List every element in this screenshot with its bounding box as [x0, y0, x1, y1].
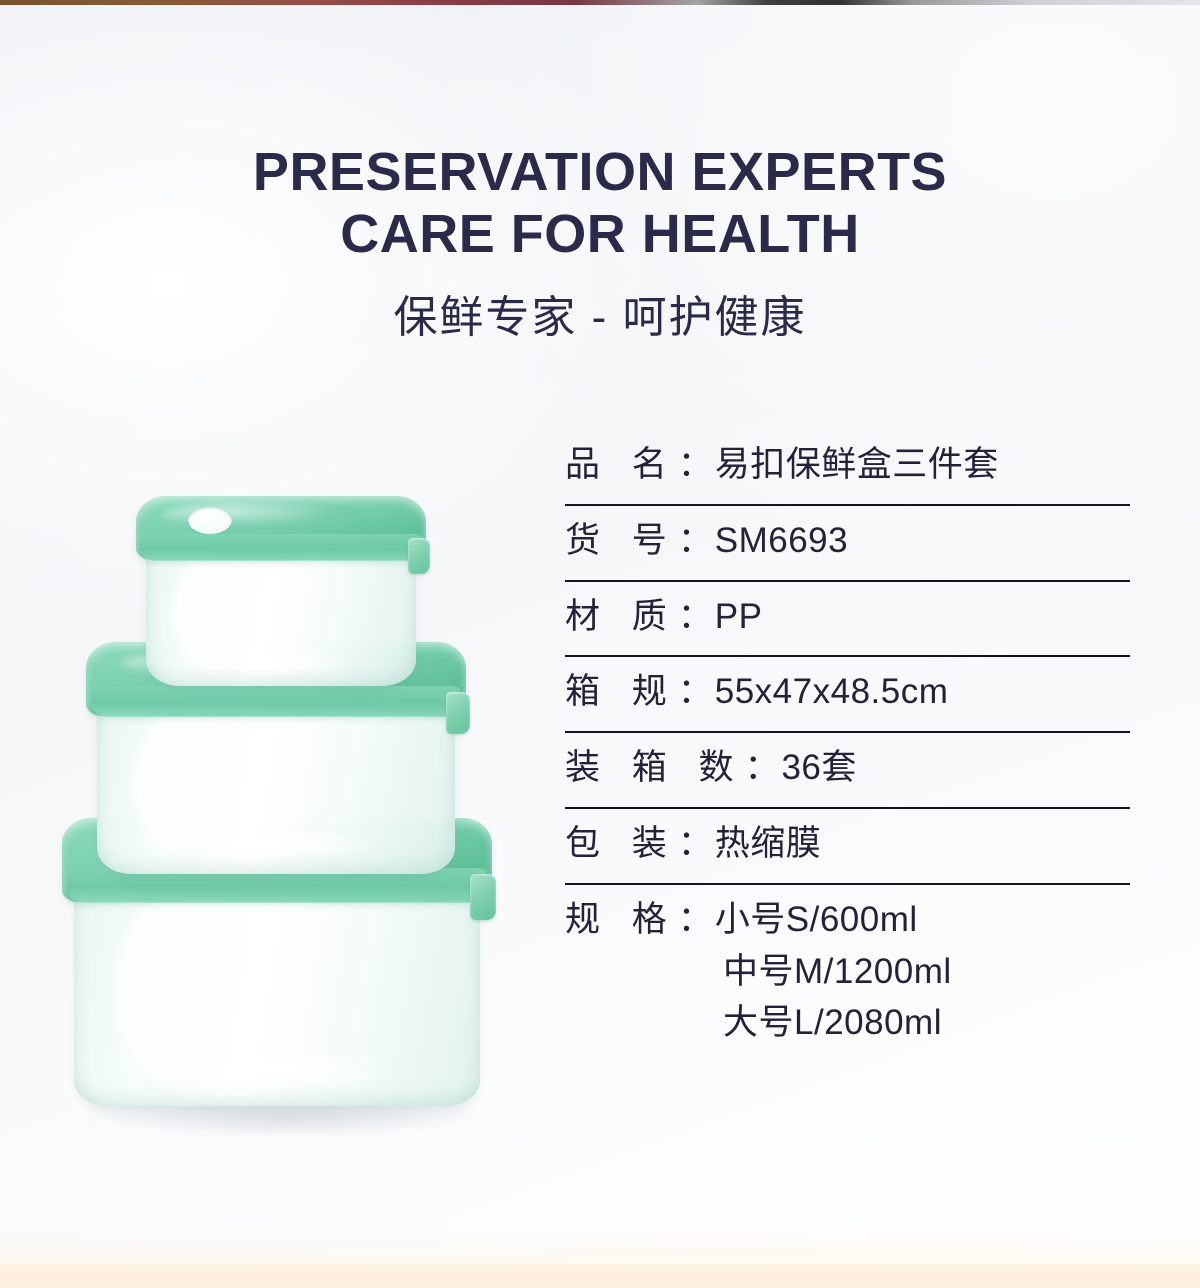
container-medium-base-glow — [176, 829, 376, 861]
container-medium-lid-skirt — [92, 686, 461, 717]
spec-label-packaging: 包 装 — [565, 818, 678, 870]
container-small-lid — [136, 496, 426, 560]
container-large-body — [74, 876, 480, 1106]
spec-row-packaging: 包 装 ： 热缩膜 — [565, 809, 1130, 885]
spec-value-packaging: 热缩膜 — [715, 818, 822, 870]
spec-value-material: PP — [715, 591, 763, 643]
spec-label-carton-size: 箱 规 — [565, 666, 678, 718]
container-small-body — [146, 540, 416, 686]
headline-english-line2: CARE FOR HEALTH — [0, 204, 1200, 266]
spec-colon: ： — [678, 666, 715, 718]
container-large-base-glow — [163, 1049, 390, 1090]
spec-colon: ： — [744, 742, 781, 794]
headline-block: PRESERVATION EXPERTS CARE FOR HEALTH 保鲜专… — [0, 142, 1200, 345]
spec-row-product-name: 品 名 ： 易扣保鲜盒三件套 — [565, 430, 1130, 506]
spec-value-product-name: 易扣保鲜盒三件套 — [715, 439, 999, 491]
top-edge-sliver — [0, 0, 1200, 5]
specification-table: 品 名 ： 易扣保鲜盒三件套 货 号 ： SM6693 材 质 ： PP 箱 规 — [565, 430, 1130, 1062]
spec-label-material: 材 质 — [565, 591, 678, 643]
spec-colon: ： — [678, 439, 715, 491]
spec-value-carton-qty: 36套 — [781, 742, 856, 794]
spec-colon: ： — [678, 818, 715, 870]
spec-value-size-medium: 中号M/1200ml — [565, 946, 952, 998]
spec-value-size-small: 小号S/600ml — [715, 894, 918, 946]
spec-value-item-number: SM6693 — [715, 515, 848, 567]
spec-row-material: 材 质 ： PP — [565, 582, 1130, 658]
container-small — [136, 496, 426, 686]
spec-value-carton-size: 55x47x48.5cm — [715, 666, 949, 718]
spec-value-size-large: 大号L/2080ml — [565, 997, 942, 1049]
container-small-base-glow — [205, 650, 356, 676]
spec-label-carton-qty: 装 箱 数 — [565, 742, 744, 794]
container-medium-body — [97, 694, 455, 874]
spec-colon: ： — [678, 591, 715, 643]
product-image — [40, 470, 510, 1150]
spec-row-item-number: 货 号 ： SM6693 — [565, 506, 1130, 582]
headline-english-line1: PRESERVATION EXPERTS — [0, 142, 1200, 204]
container-medium-latch-clip — [446, 692, 470, 734]
spec-row-sizes: 规 格 ： 小号S/600ml 中号M/1200ml 大号L/2080ml — [565, 885, 1130, 1062]
headline-chinese: 保鲜专家 - 呵护健康 — [0, 281, 1200, 345]
spec-label-sizes: 规 格 — [565, 894, 678, 946]
container-large-latch-clip — [470, 874, 496, 920]
spec-label-product-name: 品 名 — [565, 439, 678, 491]
spec-colon: ： — [678, 894, 715, 946]
product-detail-page: PRESERVATION EXPERTS CARE FOR HEALTH 保鲜专… — [0, 0, 1200, 1288]
spec-colon: ： — [678, 515, 715, 567]
spec-label-item-number: 货 号 — [565, 515, 678, 567]
bottom-edge-strip — [0, 1264, 1200, 1288]
spec-row-carton-qty: 装 箱 数 ： 36套 — [565, 733, 1130, 809]
bottom-edge-fade — [0, 1224, 1200, 1264]
lid-vent-icon — [188, 507, 232, 534]
container-small-lid-skirt — [140, 534, 421, 561]
spec-row-carton-size: 箱 规 ： 55x47x48.5cm — [565, 657, 1130, 733]
container-small-latch-clip — [408, 538, 430, 574]
